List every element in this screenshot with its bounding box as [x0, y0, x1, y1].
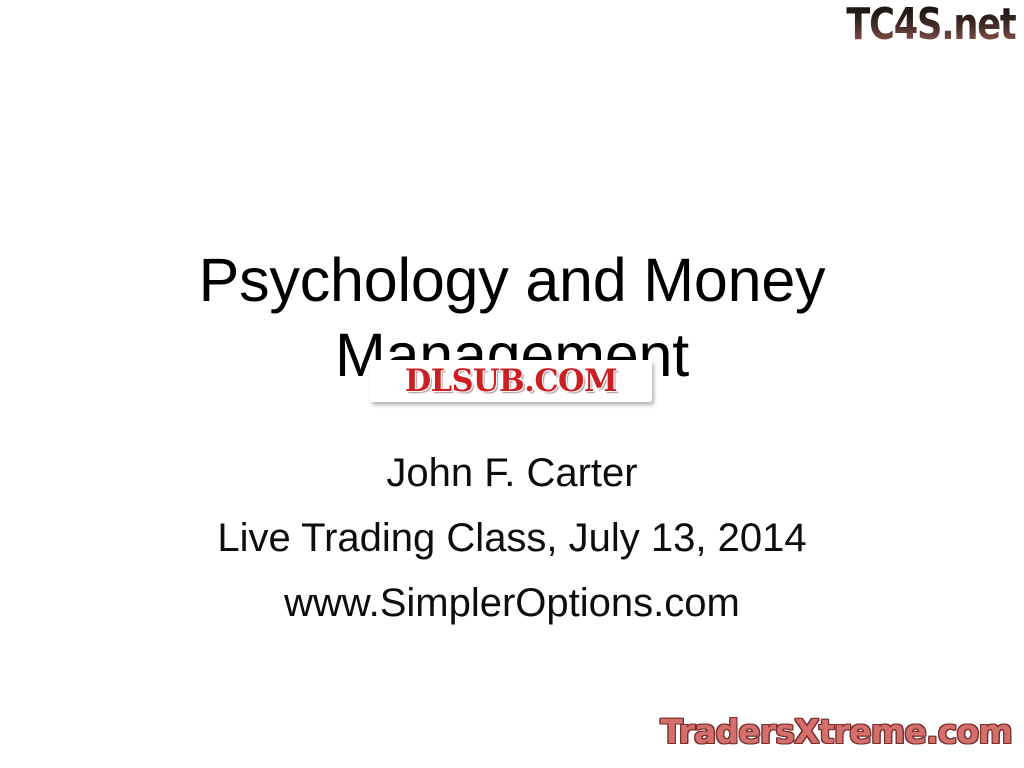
subtitle-line-class-date: Live Trading Class, July 13, 2014 — [140, 506, 884, 571]
subtitle-line-website: www.SimplerOptions.com — [140, 571, 884, 636]
presentation-slide: Psychology and Money Management John F. … — [0, 0, 1024, 768]
tradersxtreme-logo-icon: TradersXtreme.com — [660, 712, 1012, 752]
dlsub-logo-icon: DLSUB.COM — [373, 360, 649, 402]
tc4s-logo-icon: TC4S.net — [847, 1, 1016, 49]
dlsub-watermark: DLSUB.COM — [370, 360, 652, 404]
slide-subtitle: John F. Carter Live Trading Class, July … — [140, 441, 884, 636]
subtitle-line-presenter: John F. Carter — [140, 441, 884, 506]
